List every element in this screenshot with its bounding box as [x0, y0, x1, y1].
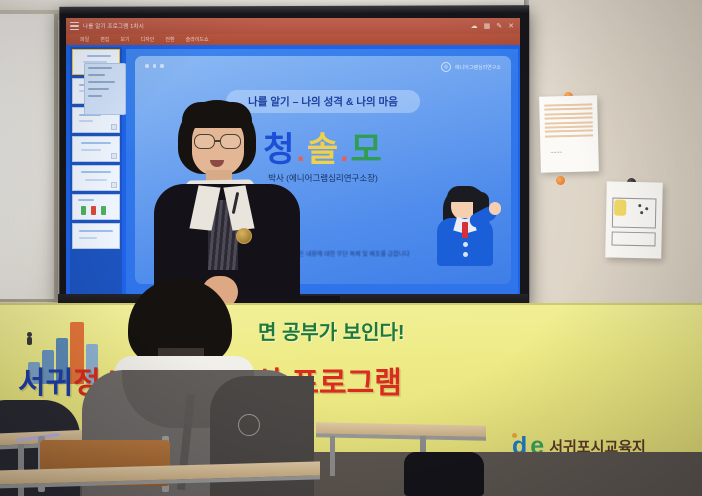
whiteboard	[0, 14, 58, 302]
jacket-emblem-icon	[238, 414, 260, 436]
context-menu-popup[interactable]	[84, 63, 126, 115]
brooch-icon	[236, 228, 252, 244]
enneagram-logo-icon: ◎	[441, 62, 451, 72]
menu-item-design[interactable]: 디자인	[141, 36, 155, 43]
slide-thumbnail[interactable]	[72, 136, 120, 162]
save-icon[interactable]: ▦	[484, 23, 491, 30]
brand-text: 에니어그램심리연구소	[455, 64, 501, 71]
student-pointing-up-character-icon	[431, 182, 505, 268]
app-menubar: 파일 편집 보기 디자인 전환 슬라이드쇼	[66, 34, 520, 45]
slide-thumbnail[interactable]	[72, 165, 120, 191]
window-dots-icon	[145, 64, 164, 68]
slide-thumbnail-rail[interactable]	[70, 47, 122, 297]
app-titlebar: 나를 알기 프로그램 1차시 ☁ ▦ ✎ ✕	[66, 18, 520, 34]
magnet-icon	[556, 176, 565, 185]
titlebar-icon-group: ☁ ▦ ✎ ✕	[471, 23, 516, 30]
handwriting-scribble: ~~~~	[550, 150, 562, 156]
pinned-paper-schedule: ~~~~	[539, 95, 599, 172]
slide-brand: ◎ 에니어그램심리연구소	[441, 62, 501, 72]
banner-subheadline-prefix: 서귀	[18, 367, 73, 400]
menu-item-view[interactable]: 보기	[120, 36, 129, 43]
slide-thumbnail[interactable]	[72, 223, 120, 249]
backpack	[404, 452, 484, 496]
eyeglasses-icon	[194, 134, 215, 149]
slide-thumbnail[interactable]	[72, 194, 120, 220]
screenshot-scene: 나를 알기 프로그램 1차시 ☁ ▦ ✎ ✕ 파일 편집 보기 디자인 전환 슬…	[0, 0, 702, 496]
title-part-2: 솔	[307, 122, 339, 171]
hamburger-icon[interactable]	[70, 22, 79, 30]
title-part-3: 모	[350, 122, 382, 171]
menu-item-transition[interactable]: 전환	[165, 36, 174, 43]
cloud-icon[interactable]: ☁	[471, 23, 478, 30]
close-icon[interactable]: ✕	[508, 23, 514, 30]
menu-item-slideshow[interactable]: 슬라이드쇼	[186, 36, 209, 43]
title-dot-2: .	[340, 135, 349, 169]
pen-icon[interactable]: ✎	[496, 23, 502, 30]
app-title: 나를 알기 프로그램 1차시	[83, 22, 144, 30]
menu-item-file[interactable]: 파일	[80, 36, 89, 43]
pinned-paper-drawing	[605, 181, 663, 258]
menu-item-edit[interactable]: 편집	[100, 36, 109, 43]
